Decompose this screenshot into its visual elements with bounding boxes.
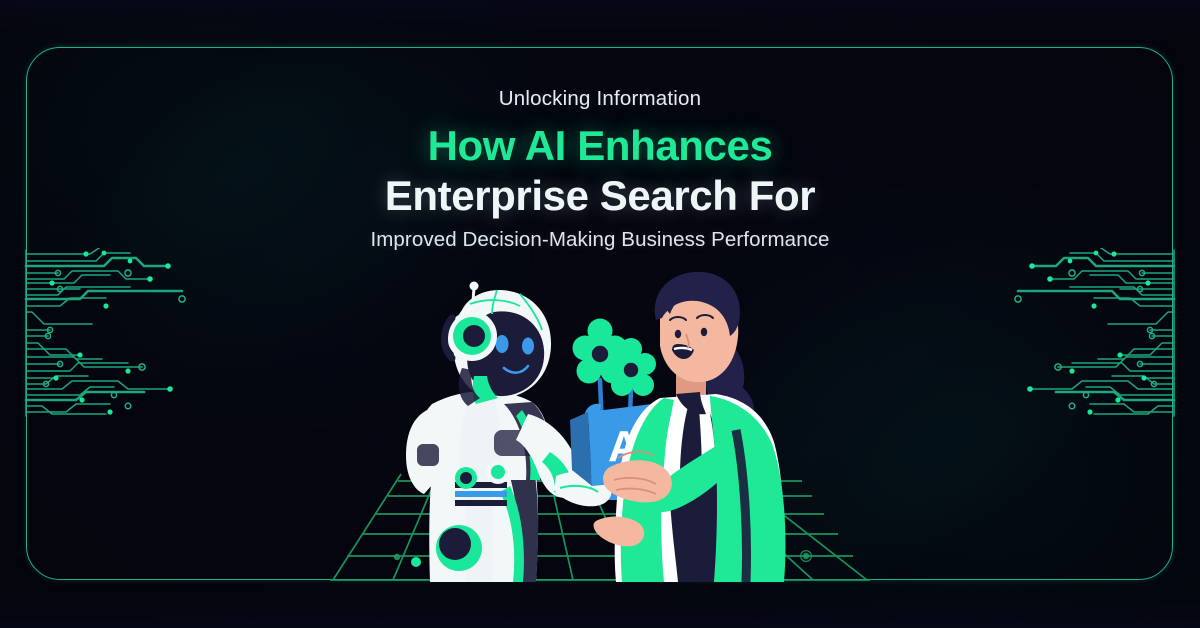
- heading-block: Unlocking Information How AI Enhances En…: [0, 88, 1200, 252]
- title-line-two: Enterprise Search For: [0, 173, 1200, 218]
- subtitle-text: Improved Decision-Making Business Perfor…: [0, 229, 1200, 252]
- eyebrow-text: Unlocking Information: [0, 88, 1200, 110]
- title-line-one: How AI Enhances: [0, 123, 1200, 168]
- circuit-pattern-left: [18, 248, 188, 418]
- circuit-pattern-right: [1012, 248, 1182, 418]
- banner-root: Unlocking Information How AI Enhances En…: [0, 0, 1200, 628]
